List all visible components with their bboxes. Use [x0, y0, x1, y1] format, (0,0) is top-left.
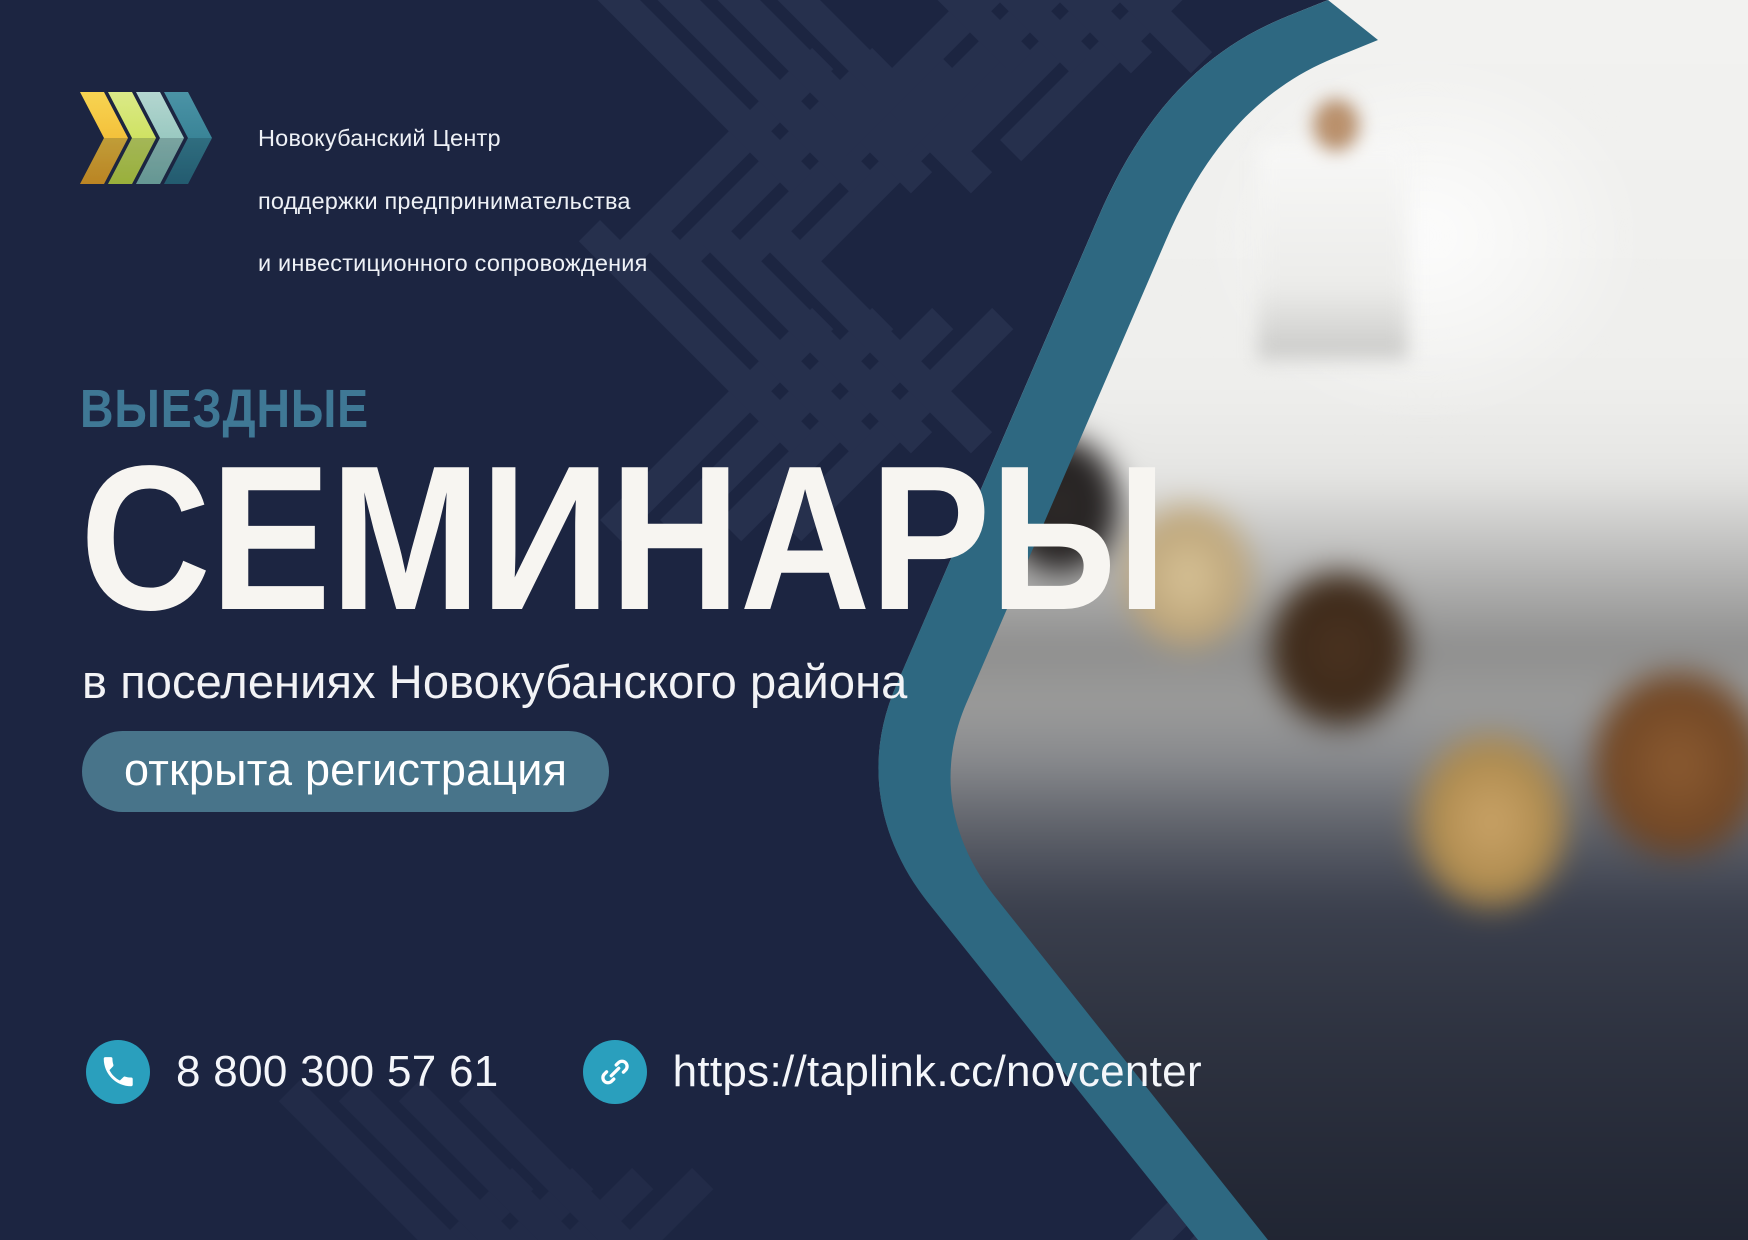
- logo-text-line-1: Новокубанский Центр: [258, 123, 648, 154]
- subtitle-text: в поселениях Новокубанского района: [82, 656, 1110, 708]
- poster-canvas: Новокубанский Центр поддержки предприним…: [0, 0, 1748, 1240]
- status-badge: открыта регистрация: [82, 731, 609, 812]
- phone-icon: [86, 1040, 150, 1104]
- link-icon: [583, 1040, 647, 1104]
- logo: Новокубанский Центр поддержки предприним…: [78, 88, 648, 311]
- contact-phone[interactable]: 8 800 300 57 61: [86, 1040, 499, 1104]
- logo-text: Новокубанский Центр поддержки предприним…: [258, 88, 648, 311]
- contact-link[interactable]: https://taplink.cc/novcenter: [583, 1040, 1202, 1104]
- phone-number: 8 800 300 57 61: [176, 1050, 499, 1094]
- four-chevrons-logo-icon: [78, 88, 230, 188]
- photo-flipchart: [807, 74, 927, 374]
- headline-block: ВЫЕЗДНЫЕ СЕМИНАРЫ в поселениях Новокубан…: [80, 382, 1110, 812]
- logo-text-line-3: и инвестиционного сопровождения: [258, 248, 648, 279]
- page-title: СЕМИНАРЫ: [80, 444, 986, 634]
- contact-row: 8 800 300 57 61 https://taplink.cc/novce…: [86, 1040, 1202, 1104]
- photo-speaker-figure: [1258, 99, 1408, 359]
- website-url: https://taplink.cc/novcenter: [673, 1050, 1202, 1094]
- logo-text-line-2: поддержки предпринимательства: [258, 186, 648, 217]
